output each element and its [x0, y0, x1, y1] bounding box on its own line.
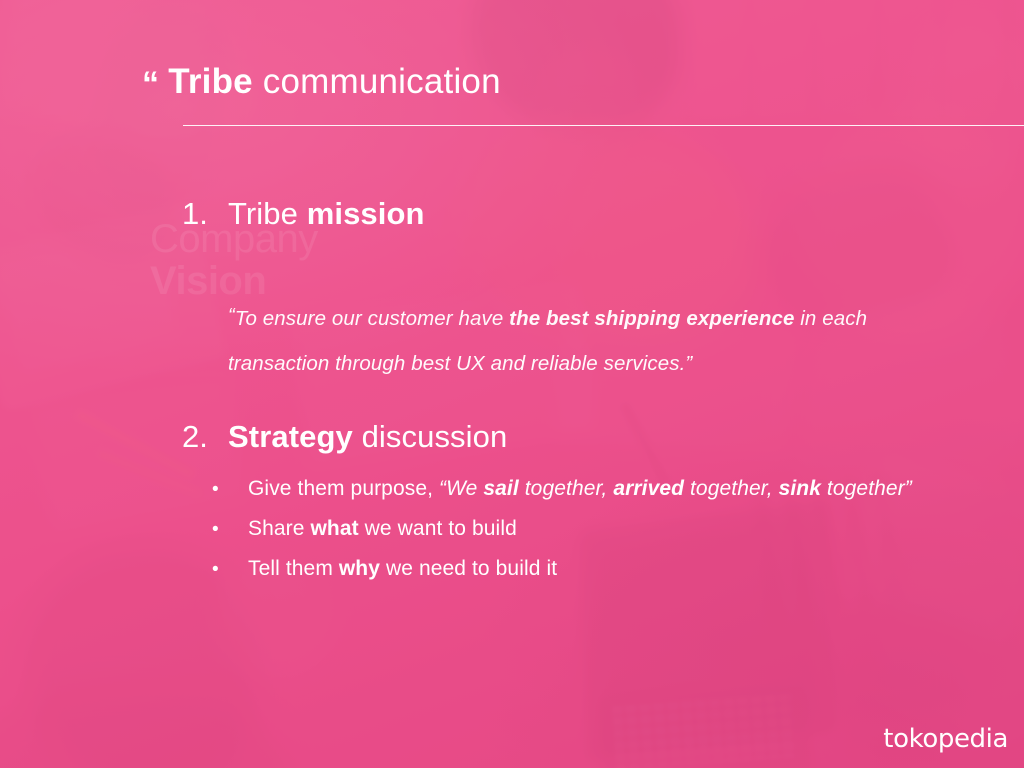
list-item-label: Tribe mission: [228, 196, 425, 232]
list-item-number: 2.: [182, 419, 228, 455]
bullet-text: Give them purpose, “We sail together, ar…: [248, 478, 912, 499]
bullet-seg-1: Share: [248, 517, 310, 540]
bullet-seg-2: “We: [439, 477, 483, 500]
list-item-strategy-discussion: 2. Strategy discussion: [182, 419, 507, 455]
tokopedia-logo: tokopedia: [883, 724, 1008, 754]
strategy-bullet-list: • Give them purpose, “We sail together, …: [212, 478, 1002, 598]
bullet-seg-8: together”: [821, 477, 912, 500]
bullet-dot-icon: •: [212, 560, 248, 579]
bullet-seg-1: Tell them: [248, 557, 339, 580]
bullet-emphasis-what: what: [310, 517, 358, 540]
bullet-seg-3: we need to build it: [380, 557, 557, 580]
presentation-slide: Company Vision “Tribe communication 1. T…: [0, 0, 1024, 768]
page-title: “Tribe communication: [142, 63, 501, 103]
mission-quote-open-mark: “: [228, 305, 235, 327]
bullet-text: Share what we want to build: [248, 518, 517, 539]
list-item: • Share what we want to build: [212, 518, 1002, 539]
list-item-label-bold: mission: [307, 196, 425, 231]
list-item: • Give them purpose, “We sail together, …: [212, 478, 1002, 499]
bullet-dot-icon: •: [212, 480, 248, 499]
list-item-number: 1.: [182, 196, 228, 232]
mission-quote-emphasis: the best shipping experience: [509, 307, 794, 330]
title-divider: [183, 125, 1024, 126]
bullet-emphasis-sink: sink: [779, 477, 821, 500]
mission-quote-seg-1: To ensure our customer have: [235, 307, 509, 330]
page-title-bold: Tribe: [168, 62, 253, 101]
list-item-label-light: discussion: [353, 419, 507, 454]
mission-quote: “To ensure our customer have the best sh…: [228, 294, 928, 386]
list-item-label-light: Tribe: [228, 196, 307, 231]
slide-content: “Tribe communication 1. Tribe mission “T…: [0, 0, 1024, 768]
bullet-seg-6: together,: [684, 477, 779, 500]
bullet-seg-4: together,: [519, 477, 614, 500]
list-item-label-bold: Strategy: [228, 419, 353, 454]
list-item-label: Strategy discussion: [228, 419, 507, 455]
bullet-dot-icon: •: [212, 520, 248, 539]
quote-mark-icon: “: [142, 65, 159, 103]
bullet-emphasis-why: why: [339, 557, 380, 580]
page-title-light: communication: [253, 62, 501, 101]
bullet-emphasis-sail: sail: [483, 477, 518, 500]
bullet-seg-3: we want to build: [359, 517, 517, 540]
bullet-seg-1: Give them purpose,: [248, 477, 439, 500]
bullet-emphasis-arrived: arrived: [613, 477, 684, 500]
list-item-tribe-mission: 1. Tribe mission: [182, 196, 425, 232]
bullet-text: Tell them why we need to build it: [248, 558, 557, 579]
list-item: • Tell them why we need to build it: [212, 558, 1002, 579]
